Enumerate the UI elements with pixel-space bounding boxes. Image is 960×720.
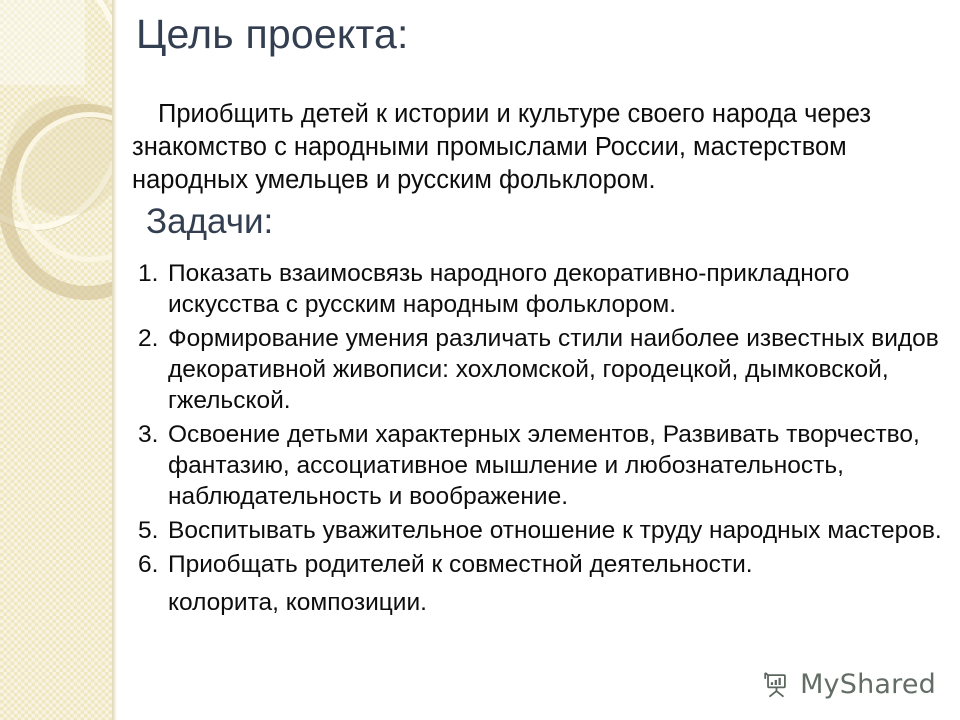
intro-paragraph: Приобщить детей к истории и культуре сво…: [132, 98, 932, 197]
list-item: 3. Освоение детьми характерных элементов…: [132, 419, 944, 512]
list-item-label: Формирование умения различать стили наиб…: [168, 323, 944, 416]
list-item-number: 2.: [138, 323, 158, 354]
list-item-number: 3.: [138, 419, 158, 450]
list-item-number: 5.: [138, 515, 158, 546]
page-title: Цель проекта:: [136, 10, 409, 58]
decorative-side-band: [0, 0, 112, 720]
section-heading-tasks: Задачи:: [146, 200, 273, 244]
list-item-label: Приобщать родителей к совместной деятель…: [168, 549, 944, 580]
list-item-label: Показать взаимосвязь народного декоратив…: [168, 258, 944, 320]
decorative-band-edge: [112, 0, 117, 720]
slide-canvas: Цель проекта: Приобщить детей к истории …: [0, 0, 960, 720]
tasks-list: 1. Показать взаимосвязь народного декора…: [132, 258, 944, 618]
list-item-number: 1.: [138, 258, 158, 289]
list-item-label: Воспитывать уважительное отношение к тру…: [168, 515, 944, 546]
list-item: 5. Воспитывать уважительное отношение к …: [132, 515, 944, 546]
trailing-line: колорита, композиции.: [132, 587, 944, 618]
list-item-label: Освоение детьми характерных элементов, Р…: [168, 419, 944, 512]
watermark-label: MyShared: [800, 669, 936, 700]
list-item-number: 6.: [138, 549, 158, 580]
list-item: 1. Показать взаимосвязь народного декора…: [132, 258, 944, 320]
list-item: 6. Приобщать родителей к совместной деят…: [132, 549, 944, 580]
myshared-watermark: MyShared: [761, 669, 936, 700]
presentation-board-icon: [761, 670, 791, 700]
slide-content: Цель проекта: Приобщить детей к истории …: [128, 0, 960, 720]
list-item: 2. Формирование умения различать стили н…: [132, 323, 944, 416]
